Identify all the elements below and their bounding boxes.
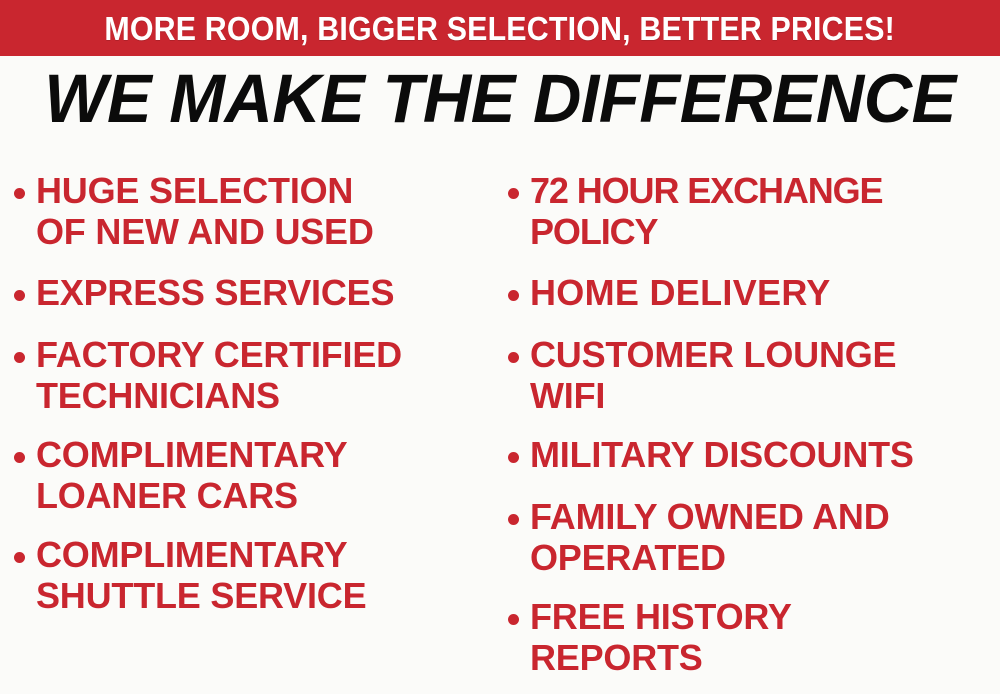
list-item-label: FREE HISTORY REPORTS <box>530 596 792 678</box>
list-item: FREE HISTORY REPORTS <box>508 596 792 678</box>
list-item: CUSTOMER LOUNGE WIFI <box>508 334 896 416</box>
list-item-label: CUSTOMER LOUNGE WIFI <box>530 334 896 416</box>
list-item-label: FACTORY CERTIFIED TECHNICIANS <box>36 334 402 416</box>
list-item: FACTORY CERTIFIED TECHNICIANS <box>14 334 402 416</box>
list-item-label: 72 HOUR EXCHANGE POLICY <box>530 170 882 252</box>
bullet-dot-icon <box>508 614 519 625</box>
promotional-poster: MORE ROOM, BIGGER SELECTION, BETTER PRIC… <box>0 0 1000 694</box>
bullet-dot-icon <box>14 352 25 363</box>
banner-headline-bar: MORE ROOM, BIGGER SELECTION, BETTER PRIC… <box>0 0 1000 56</box>
list-item: 72 HOUR EXCHANGE POLICY <box>508 170 882 252</box>
list-item-label: HOME DELIVERY <box>530 272 831 313</box>
bullet-dot-icon <box>14 188 25 199</box>
list-item-label: COMPLIMENTARY SHUTTLE SERVICE <box>36 534 366 616</box>
page-title: WE MAKE THE DIFFERENCE <box>15 64 985 133</box>
bullet-dot-icon <box>508 290 519 301</box>
bullet-dot-icon <box>508 352 519 363</box>
bullet-dot-icon <box>508 188 519 199</box>
list-item: EXPRESS SERVICES <box>14 272 394 313</box>
list-item: HOME DELIVERY <box>508 272 831 313</box>
benefits-columns: HUGE SELECTION OF NEW AND USED EXPRESS S… <box>0 160 1000 694</box>
list-item: FAMILY OWNED AND OPERATED <box>508 496 890 578</box>
list-item-label: MILITARY DISCOUNTS <box>530 434 914 475</box>
list-item: COMPLIMENTARY LOANER CARS <box>14 434 347 516</box>
bullet-dot-icon <box>14 290 25 301</box>
bullet-dot-icon <box>14 452 25 463</box>
benefits-column-right: 72 HOUR EXCHANGE POLICY HOME DELIVERY CU… <box>508 160 1000 694</box>
list-item-label: FAMILY OWNED AND OPERATED <box>530 496 890 578</box>
list-item: MILITARY DISCOUNTS <box>508 434 914 475</box>
list-item: COMPLIMENTARY SHUTTLE SERVICE <box>14 534 366 616</box>
list-item-label: EXPRESS SERVICES <box>36 272 394 313</box>
bullet-dot-icon <box>508 514 519 525</box>
list-item: HUGE SELECTION OF NEW AND USED <box>14 170 374 252</box>
bullet-dot-icon <box>14 552 25 563</box>
banner-headline-text: MORE ROOM, BIGGER SELECTION, BETTER PRIC… <box>105 12 896 45</box>
bullet-dot-icon <box>508 452 519 463</box>
benefits-column-left: HUGE SELECTION OF NEW AND USED EXPRESS S… <box>14 160 494 694</box>
list-item-label: HUGE SELECTION OF NEW AND USED <box>36 170 374 252</box>
list-item-label: COMPLIMENTARY LOANER CARS <box>36 434 347 516</box>
